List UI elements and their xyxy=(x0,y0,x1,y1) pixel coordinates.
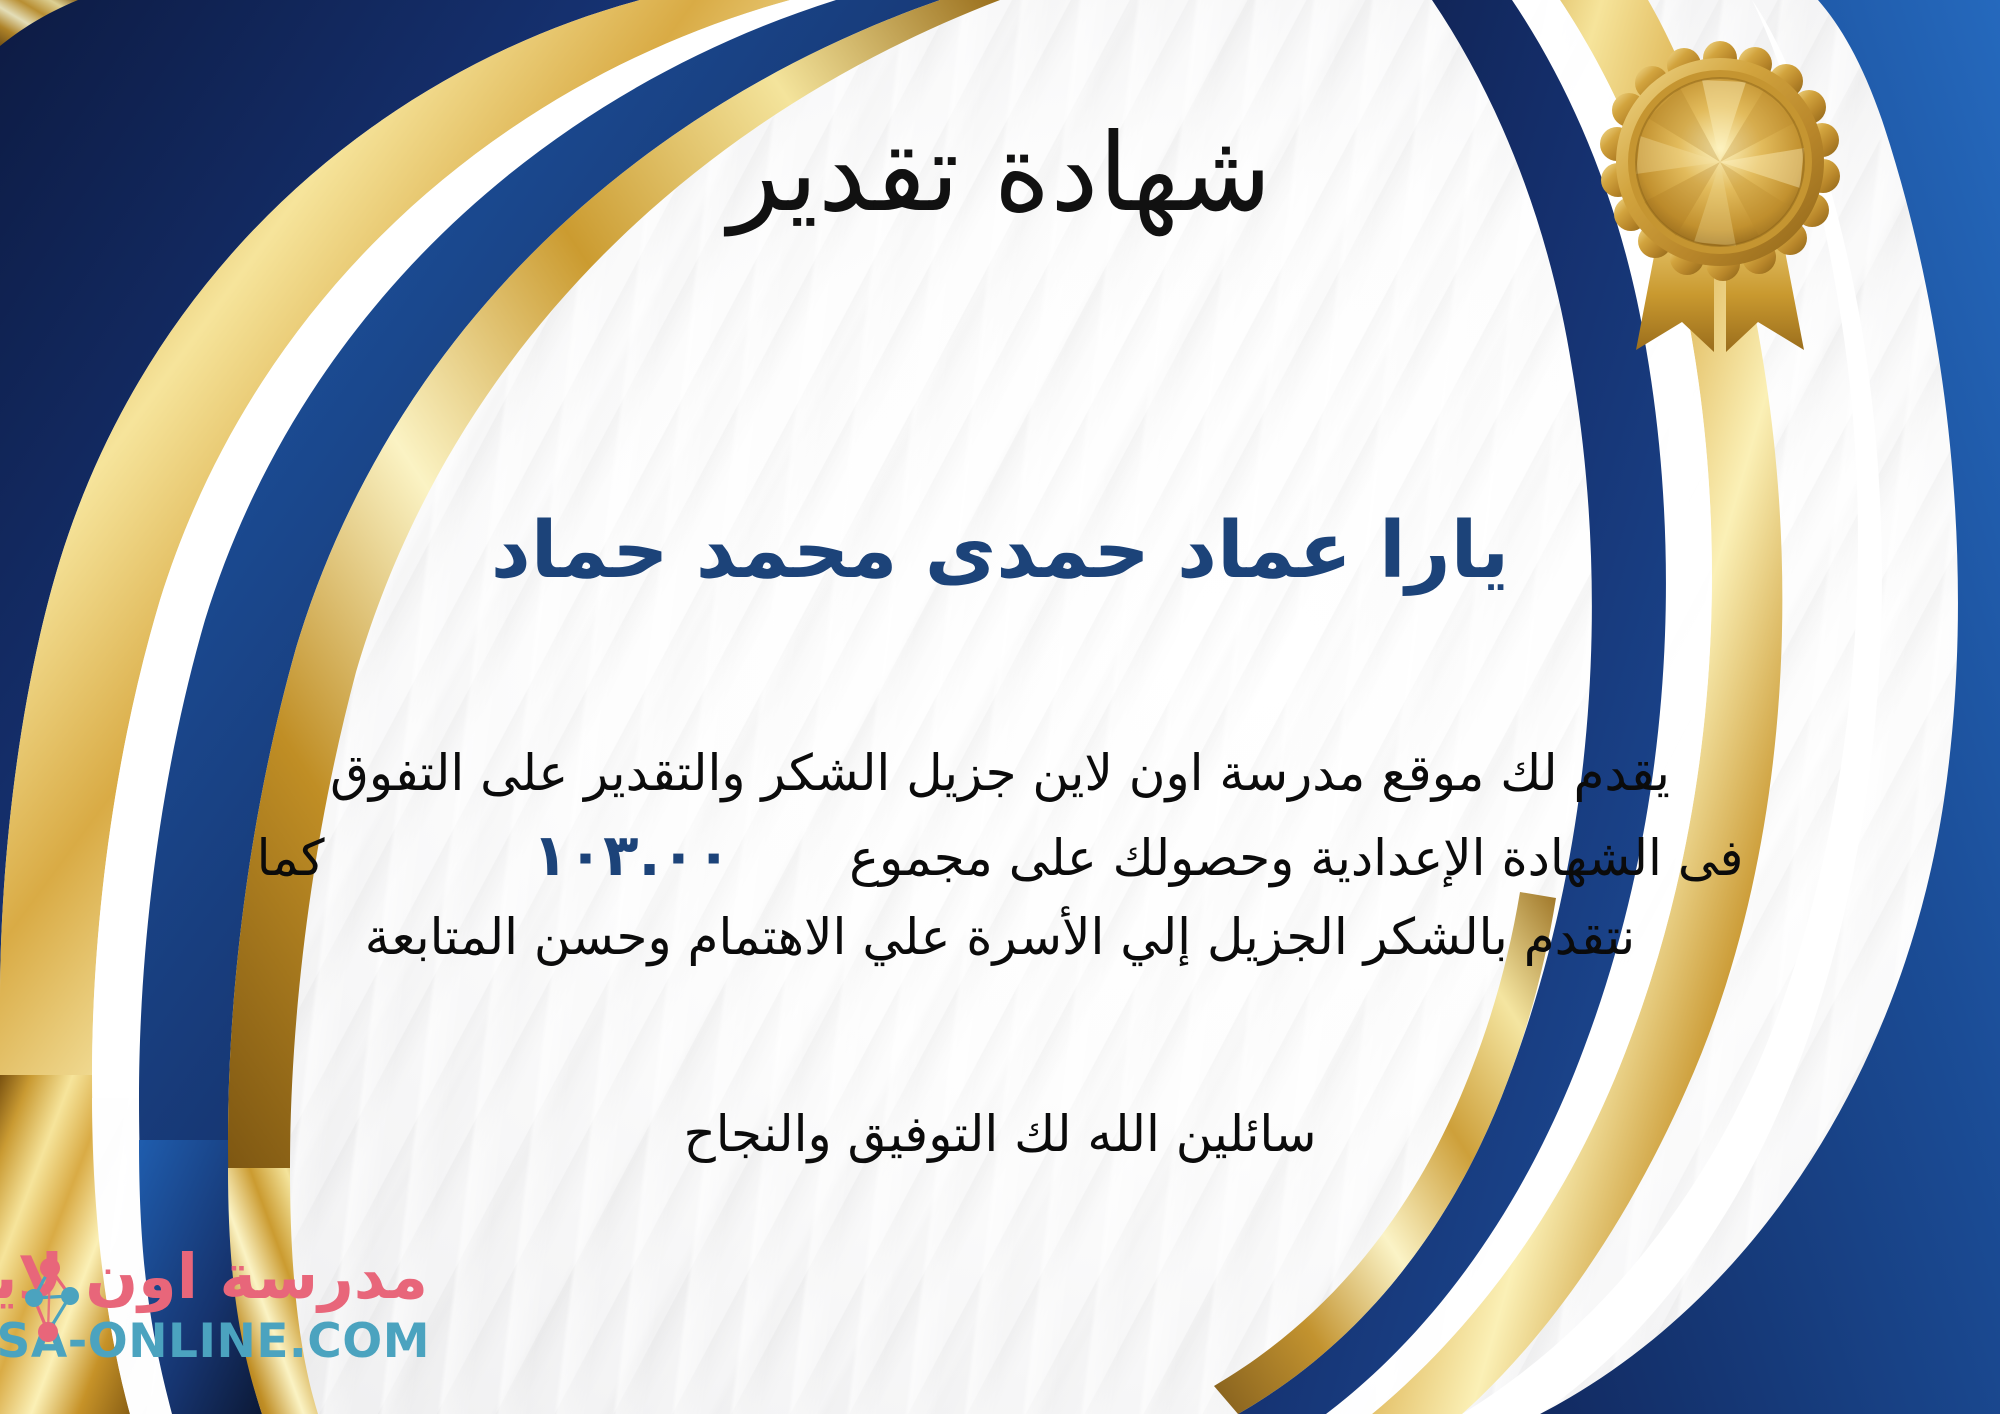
certificate-body: يقدم لك موقع مدرسة اون لاين جزيل الشكر و… xyxy=(70,735,1930,975)
body-line-2-prefix: فى الشهادة الإعدادية وحصولك على مجموع xyxy=(849,829,1743,887)
recipient-name: يارا عماد حمدى محمد حماد xyxy=(0,505,2000,599)
body-line-2-suffix: كما xyxy=(257,829,325,887)
body-line-3: نتقدم بالشكر الجزيل إلي الأسرة علي الاهت… xyxy=(70,899,1930,975)
grade-value: ١٠٣.٠٠ xyxy=(506,811,757,899)
certificate-content: شهادة تقدير يارا عماد حمدى محمد حماد يقد… xyxy=(0,0,2000,1414)
body-line-2: فى الشهادة الإعدادية وحصولك على مجموع ١٠… xyxy=(70,811,1930,899)
body-line-1: يقدم لك موقع مدرسة اون لاين جزيل الشكر و… xyxy=(70,735,1930,811)
closing-line: سائلين الله لك التوفيق والنجاح xyxy=(0,1105,2000,1163)
brand-logo[interactable]: مدرسة اون لاين MADRSA-ONLINE.COM xyxy=(18,1238,488,1388)
page-title: شهادة تقدير xyxy=(0,112,2000,236)
network-nodes-icon xyxy=(20,1246,82,1366)
certificate-canvas: شهادة تقدير يارا عماد حمدى محمد حماد يقد… xyxy=(0,0,2000,1414)
